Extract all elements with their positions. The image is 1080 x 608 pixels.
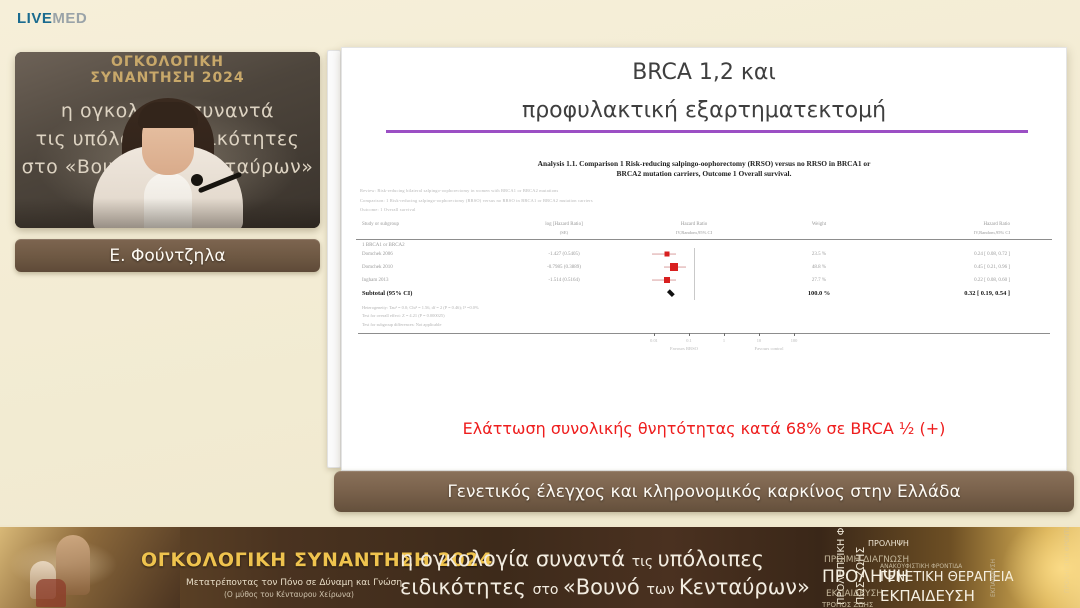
table-row: Domchek 2006 -1.427 (0.5405) 23.5 % 0.24… — [354, 248, 1054, 261]
null-effect-line — [694, 287, 695, 300]
row-hr-ci: 0.24 [ 0.08, 0.72 ] — [874, 252, 1024, 257]
slide-title-line2: προφυλακτική εξαρτηματεκτομή — [342, 98, 1066, 124]
microphone-head-icon — [191, 174, 203, 186]
tagline1-small: τις — [632, 554, 658, 570]
row-log-hr: -0.7985 (0.3889) — [504, 265, 624, 270]
stat-heterogeneity: Heterogeneity: Tau² = 0.0; Chi² = 1.56, … — [362, 304, 1054, 313]
axis-tick-label: 1 — [723, 338, 725, 343]
table-row: Ingham 2013 -1.514 (0.5164) 27.7 % 0.22 … — [354, 274, 1054, 287]
row-plot-cell — [624, 261, 764, 274]
axis-tick-label: 10 — [757, 338, 761, 343]
backdrop-line-1: ΟΓΚΟΛΟΓΙΚΗ — [15, 54, 320, 70]
row-study: Ingham 2013 — [354, 278, 504, 283]
row-weight: 23.5 % — [764, 252, 874, 257]
cloud-word-education-big: ΕΚΠΑΙΔΕΥΣΗ — [880, 587, 975, 605]
banner-word-cloud: ΠΡΟΛΗΠΤΙΚΗ ΦΡΟΝΤΙΔΑ ΠΩΣ ΖΩΗΣ ΠΡΩΙΜΗ ΔΙΑΓ… — [818, 527, 1080, 608]
axis-baseline — [358, 333, 1050, 334]
title-underline-rule — [386, 130, 1028, 133]
livemed-player-page: LIVEMED ΟΓΚΟΛΟΓΙΚΗ ΣΥΝΑΝΤΗΣΗ 2024 η ογκο… — [0, 0, 1080, 608]
row-study: Domchek 2006 — [354, 252, 504, 257]
subtotal-plot-cell — [624, 287, 764, 300]
livemed-logo: LIVEMED — [17, 10, 87, 27]
session-title: Γενετικός έλεγχος και κληρονομικός καρκί… — [447, 482, 960, 502]
col-header-weight: Weight — [764, 221, 874, 229]
forest-plot-meta: Review: Risk-reducing bilateral salpingo… — [360, 186, 1054, 215]
cloud-word-palliative-care: ΑΝΑΚΟΥΦΙΣΤΙΚΗ ΦΡΟΝΤΙΔΑ — [880, 563, 962, 570]
logo-med-text: MED — [52, 10, 87, 27]
cloud-word-lifestyle: ΤΡΟΠΟΣ ΖΩΗΣ — [822, 601, 873, 608]
row-effect-marker — [664, 277, 670, 283]
subtotal-diamond-marker — [667, 289, 674, 296]
axis-label-right: Favours control — [755, 346, 784, 351]
row-weight: 27.7 % — [764, 278, 874, 283]
row-study: Domchek 2010 — [354, 265, 504, 270]
tagline1-main: η ογκολογία συναντά — [400, 547, 632, 571]
banner-subtitle-2: (Ο μύθος του Κένταυρου Χείρωνα) — [224, 590, 354, 599]
col-header-log-hr: log [Hazard Ratio] — [504, 221, 624, 229]
backdrop-line-2: ΣΥΝΑΝΤΗΣΗ 2024 — [15, 70, 320, 86]
row-plot-cell — [624, 274, 764, 287]
row-log-hr: -1.427 (0.5405) — [504, 252, 624, 257]
null-effect-line — [694, 274, 695, 287]
banner-figure-robe — [36, 579, 66, 607]
axis-tick — [794, 333, 795, 336]
table-top-rule — [356, 239, 1052, 240]
speaker-name-bar: Ε. Φούντζηλα — [15, 239, 320, 272]
tagline2-tail: «Βουνό — [563, 575, 647, 599]
col-header-hr-plot: Hazard Ratio — [624, 221, 764, 229]
slide-conclusion-note: Ελάττωση συνολικής θνητότητας κατά 68% σ… — [342, 419, 1066, 438]
tagline1-tail: υπόλοιπες — [658, 547, 764, 571]
axis-label-left: Favours RRSO — [670, 346, 698, 351]
subtotal-hr-ci: 0.32 [ 0.19, 0.54 ] — [874, 290, 1024, 297]
row-hr-ci: 0.22 [ 0.08, 0.60 ] — [874, 278, 1024, 283]
presentation-slide[interactable]: BRCA 1,2 και προφυλακτική εξαρτηματεκτομ… — [341, 47, 1067, 471]
tagline2-small: στο — [533, 582, 563, 598]
forest-plot: Analysis 1.1. Comparison 1 Risk-reducing… — [354, 159, 1054, 359]
row-plot-cell — [624, 248, 764, 261]
cloud-word-vertical-3: ΕΚΠΑΙΔΕΥΣΗ — [990, 559, 997, 597]
meta-review: Review: Risk-reducing bilateral salpingo… — [360, 186, 1054, 196]
row-hr-ci: 0.45 [ 0.21, 0.96 ] — [874, 265, 1024, 270]
col-subheader-se: (SE) — [504, 229, 624, 237]
col-subheader-hr-plot: IV,Random,95% CI — [624, 229, 764, 237]
subtotal-label: Subtotal (95% CI) — [354, 290, 504, 297]
logo-live-text: LIVE — [17, 10, 52, 27]
analysis-header-line2: BRCA2 mutation carriers, Outcome 1 Overa… — [354, 169, 1054, 179]
stat-overall-effect: Test for overall effect: Z = 4.21 (P = 0… — [362, 312, 1054, 321]
forest-plot-axis: 0.01 0.1 1 10 100 Favours RRSO Favours c… — [354, 333, 1054, 359]
previous-slide-edge[interactable] — [327, 50, 341, 468]
video-bottom-gradient — [15, 198, 320, 228]
table-header-row: Study or subgroup log [Hazard Ratio] (SE… — [354, 221, 1054, 237]
tagline2-tail2: Κενταύρων» — [679, 575, 810, 599]
tagline2-small2: των — [646, 582, 678, 598]
forest-plot-statistics: Heterogeneity: Tau² = 0.0; Chi² = 1.56, … — [354, 304, 1054, 330]
speaker-hair-front — [138, 102, 198, 128]
slide-title-line1: BRCA 1,2 και — [342, 60, 1066, 86]
cloud-word-vertical-4: ΠΡΟΛΗΠΤΙΚΗ ΦΡΟΝΤΙΔΑ — [1064, 525, 1071, 593]
row-effect-marker — [670, 263, 678, 271]
cloud-word-prevention-small: ΠΡΟΛΗΨΗ — [868, 539, 909, 548]
speaker-name: Ε. Φούντζηλα — [109, 246, 225, 266]
stat-subgroup-differences: Test for subgroup differences: Not appli… — [362, 321, 1054, 330]
axis-tick-label: 0.01 — [650, 338, 658, 343]
axis-tick-label: 100 — [791, 338, 798, 343]
cloud-word-education-small: ΕΚΠΑΙΔΕΥΣΗ — [826, 589, 883, 599]
row-log-hr: -1.514 (0.5164) — [504, 278, 624, 283]
axis-tick — [759, 333, 760, 336]
banner-tagline-line1: η ογκολογία συναντά τις υπόλοιπες — [400, 547, 764, 571]
meta-comparison: Comparison: 1 Risk-reducing salpingo-oop… — [360, 196, 1054, 206]
banner-tagline-line2: ειδικότητες στο «Βουνό των Κενταύρων» — [400, 575, 810, 599]
axis-tick — [689, 333, 690, 336]
tagline2-main: ειδικότητες — [400, 575, 533, 599]
axis-tick-label: 0.1 — [686, 338, 692, 343]
forest-plot-table: Study or subgroup log [Hazard Ratio] (SE… — [354, 221, 1054, 360]
row-weight: 48.8 % — [764, 265, 874, 270]
null-effect-line — [694, 261, 695, 274]
col-subheader-hr-value: IV,Random,95% CI — [874, 229, 1010, 237]
table-row: Domchek 2010 -0.7985 (0.3889) 48.8 % 0.4… — [354, 261, 1054, 274]
col-header-hr-value: Hazard Ratio — [874, 221, 1010, 229]
axis-tick — [724, 333, 725, 336]
subtotal-row: Subtotal (95% CI) 100.0 % 0.32 [ 0.19, 0… — [354, 287, 1054, 300]
col-header-study: Study or subgroup — [362, 221, 504, 229]
analysis-header-line1: Analysis 1.1. Comparison 1 Risk-reducing… — [354, 159, 1054, 169]
conference-banner: ΟΓΚΟΛΟΓΙΚΗ ΣΥΝΑΝΤΗΣΗ 2024 Μετατρέποντας … — [0, 525, 1080, 608]
row-effect-marker — [665, 252, 670, 257]
speaker-video[interactable]: ΟΓΚΟΛΟΓΙΚΗ ΣΥΝΑΝΤΗΣΗ 2024 η ογκολογία συ… — [15, 52, 320, 228]
subtotal-weight: 100.0 % — [764, 290, 874, 297]
axis-tick — [654, 333, 655, 336]
meta-outcome: Outcome: 1 Overall survival — [360, 205, 1054, 215]
banner-subtitle-1: Μετατρέποντας τον Πόνο σε Δύναμη και Γνώ… — [186, 578, 402, 588]
null-effect-line — [694, 248, 695, 261]
session-title-bar: Γενετικός έλεγχος και κληρονομικός καρκί… — [334, 471, 1074, 512]
